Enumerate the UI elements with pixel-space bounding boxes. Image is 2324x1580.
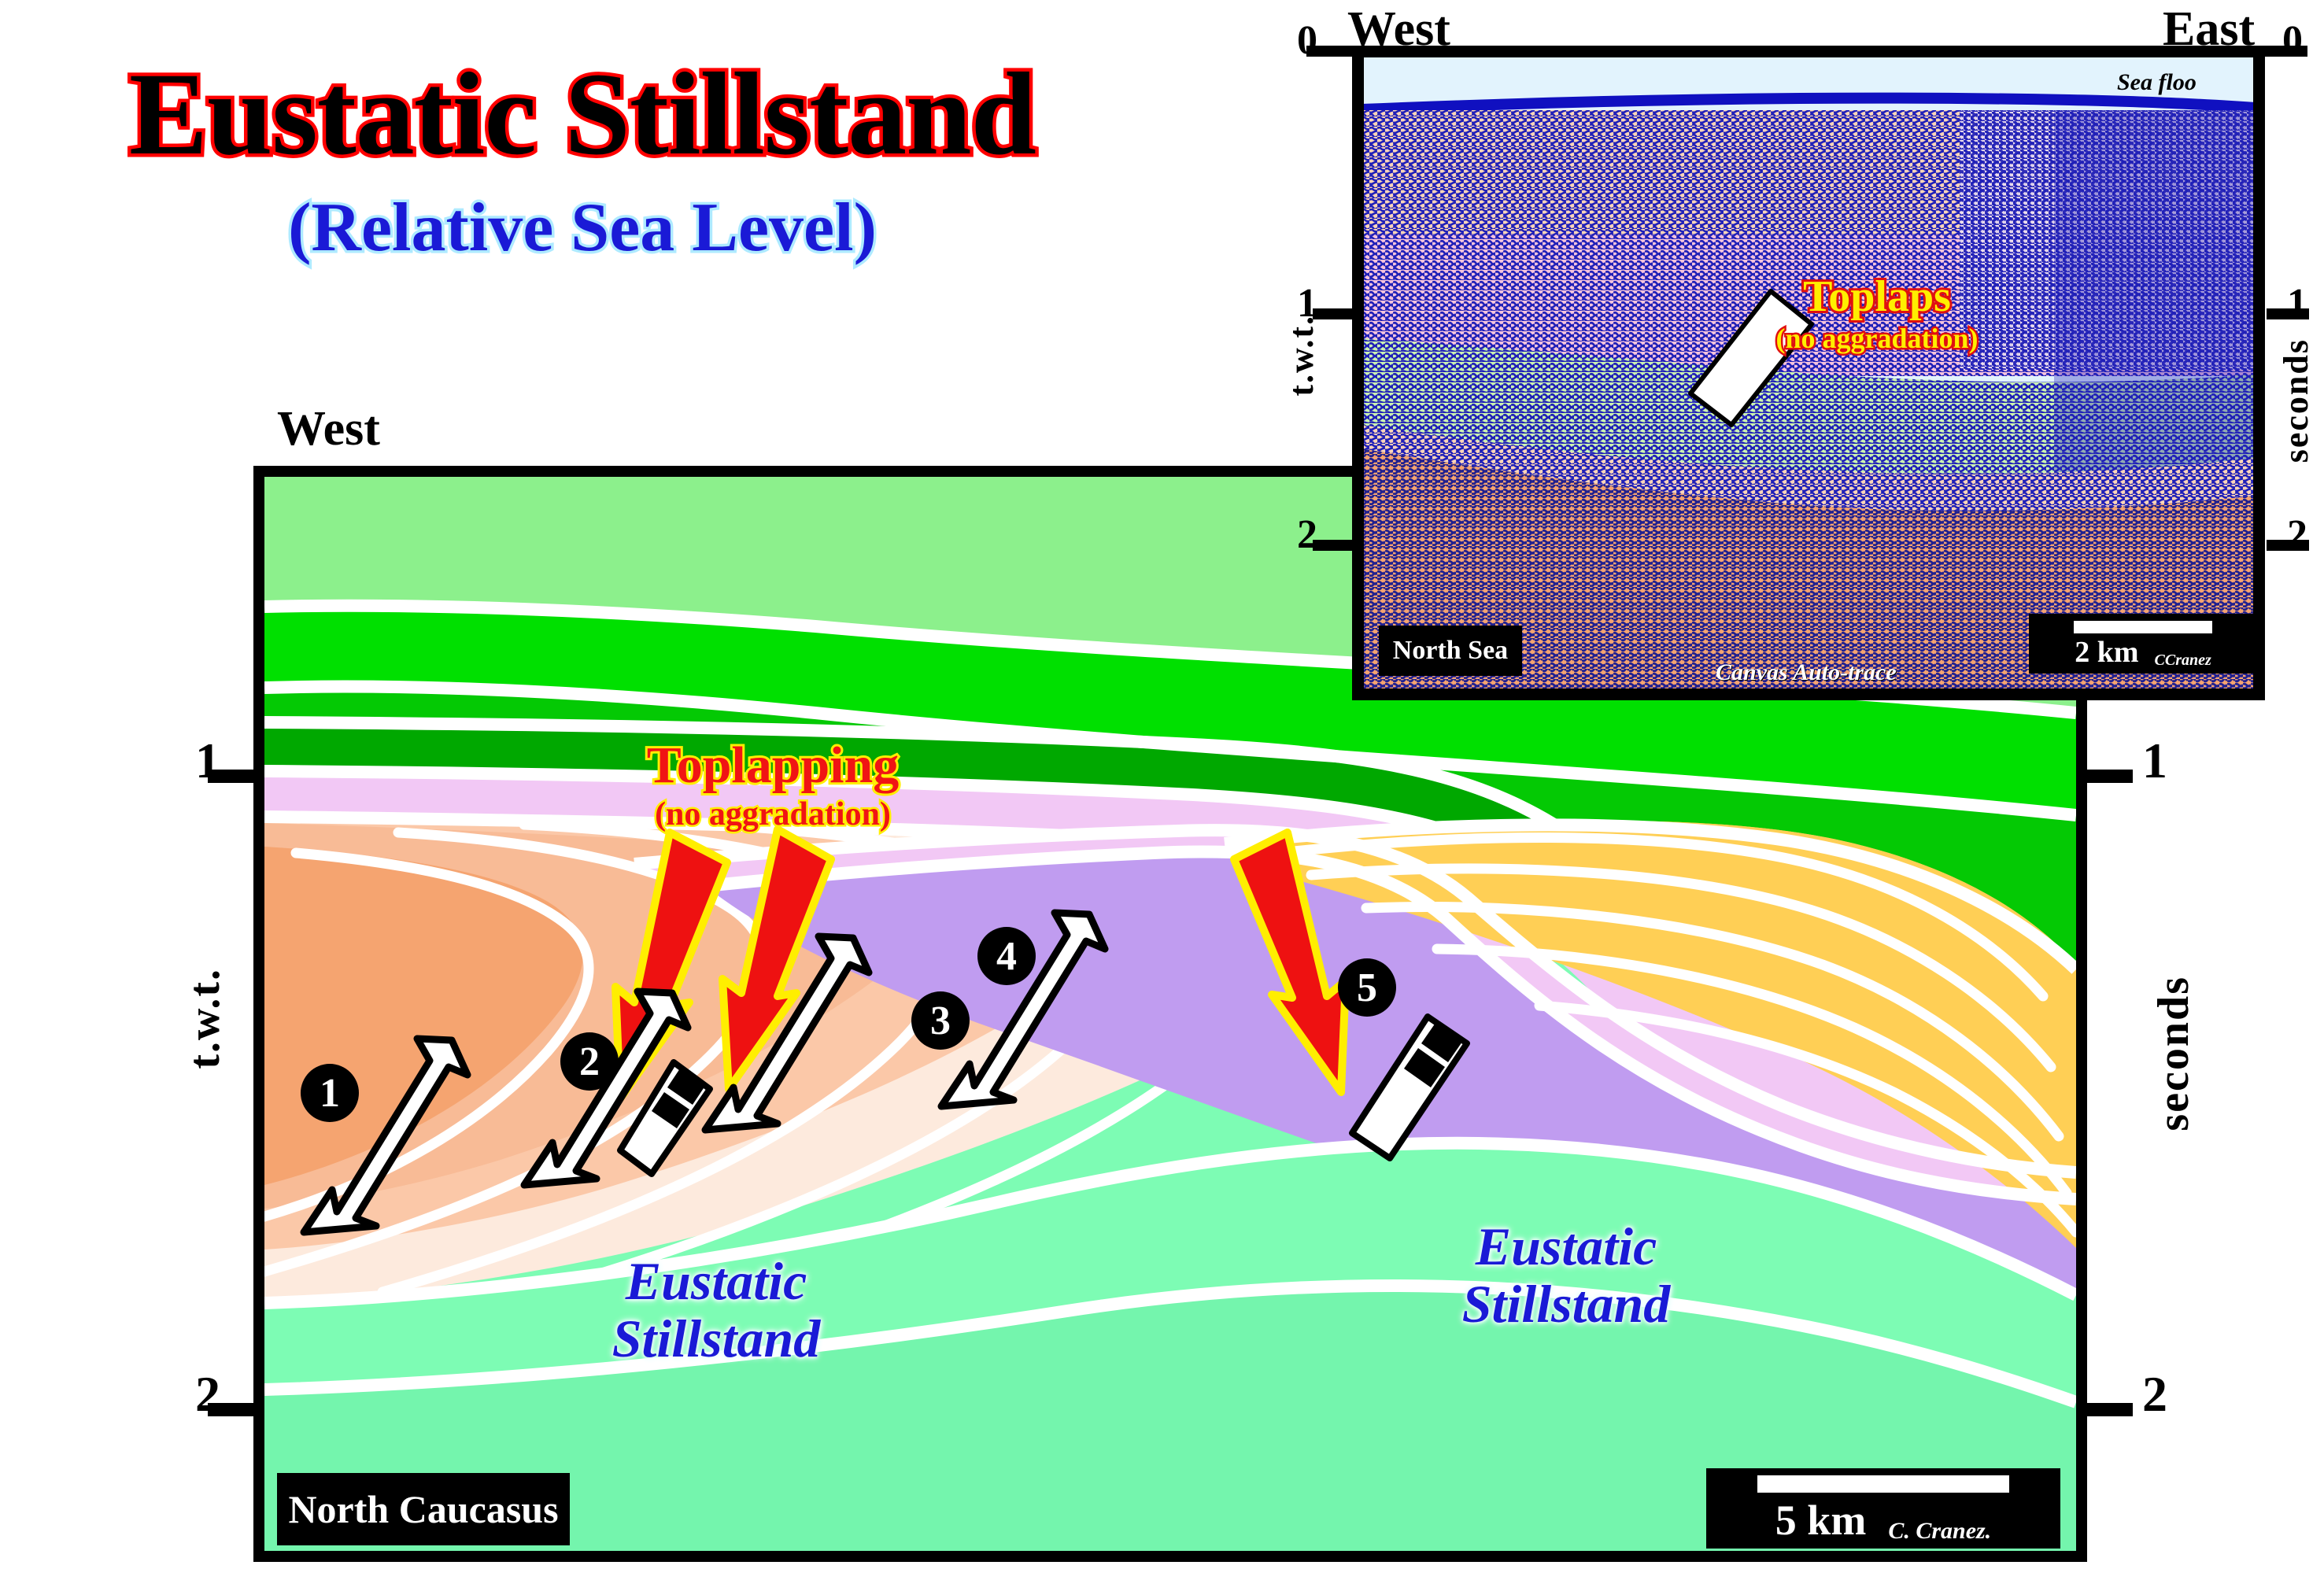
main-location-text: North Caucasus bbox=[288, 1486, 558, 1532]
page-subtitle: (Relative Sea Level) bbox=[0, 194, 1165, 263]
title-block: Eustatic Stillstand (Relative Sea Level) bbox=[0, 55, 1165, 263]
inset-y-axis-label: t.w.t. bbox=[1281, 315, 1321, 397]
es-left-line1: Eustatic bbox=[551, 1253, 881, 1310]
eustatic-stillstand-label-right: Eustatic Stillstand bbox=[1401, 1218, 1731, 1334]
toplaps-annotation: Toplaps (no aggradation) bbox=[1727, 274, 2027, 355]
marker-3[interactable]: 3 bbox=[911, 991, 970, 1050]
inset-watermark: Canvas Auto-trace bbox=[1716, 659, 1897, 686]
inset-y-tick-right-2: 2 bbox=[2287, 511, 2307, 558]
inset-y-tickmark-left-0 bbox=[1306, 46, 1355, 57]
marker-2[interactable]: 2 bbox=[560, 1032, 619, 1091]
toplaps-headline: Toplaps bbox=[1727, 274, 2027, 320]
marker-5[interactable]: 5 bbox=[1338, 958, 1396, 1017]
marker-4[interactable]: 4 bbox=[977, 927, 1036, 985]
es-right-line2: Stillstand bbox=[1401, 1275, 1731, 1333]
es-left-line2: Stillstand bbox=[551, 1310, 881, 1368]
inset-scale-bar: 2 km CCranez bbox=[2029, 614, 2257, 674]
seafloor-label: Sea floo bbox=[2117, 69, 2197, 96]
inset-y-tick-left-0: 0 bbox=[1297, 17, 1317, 64]
main-scale-bar-line bbox=[1757, 1475, 2009, 1493]
toplaps-subline: (no aggradation) bbox=[1727, 322, 2027, 355]
main-credit: C. Cranez. bbox=[1888, 1518, 1991, 1545]
main-y-tickmark-right-2 bbox=[2087, 1403, 2133, 1416]
inset-y-tick-left-2: 2 bbox=[1297, 511, 1317, 558]
main-y-axis-unit: seconds bbox=[2148, 976, 2199, 1131]
main-y-tickmark-left-2 bbox=[208, 1403, 253, 1416]
marker-1[interactable]: 1 bbox=[301, 1064, 359, 1122]
main-y-axis-label: t.w.t. bbox=[179, 968, 230, 1069]
inset-y-tick-right-1: 1 bbox=[2287, 280, 2307, 327]
inset-location-badge: North Sea bbox=[1379, 626, 1522, 676]
main-scale-bar: 5 km C. Cranez. bbox=[1706, 1468, 2060, 1549]
inset-seismic-section bbox=[1352, 46, 2265, 700]
main-y-tickmark-right-1 bbox=[2087, 770, 2133, 783]
main-compass-west: West bbox=[277, 401, 380, 457]
inset-credit: CCranez bbox=[2155, 652, 2211, 670]
es-right-line1: Eustatic bbox=[1401, 1218, 1731, 1275]
inset-scale-bar-line bbox=[2074, 621, 2212, 633]
inset-location-text: North Sea bbox=[1393, 636, 1508, 666]
main-scale-value: 5 km bbox=[1775, 1496, 1867, 1545]
inset-y-tick-right-0: 0 bbox=[2282, 17, 2303, 64]
inset-section-graphic bbox=[1362, 55, 2256, 691]
page-title: Eustatic Stillstand bbox=[0, 55, 1165, 173]
main-location-badge: North Caucasus bbox=[277, 1473, 570, 1545]
main-y-tickmark-left-1 bbox=[208, 770, 253, 783]
main-y-tick-right-1: 1 bbox=[2142, 732, 2167, 790]
inset-y-axis-unit: seconds bbox=[2276, 338, 2316, 463]
main-y-tick-right-2: 2 bbox=[2142, 1365, 2167, 1423]
inset-y-tickmark-left-2 bbox=[1313, 540, 1355, 551]
inset-scale-value: 2 km bbox=[2075, 635, 2138, 670]
eustatic-stillstand-label-left: Eustatic Stillstand bbox=[551, 1253, 881, 1368]
